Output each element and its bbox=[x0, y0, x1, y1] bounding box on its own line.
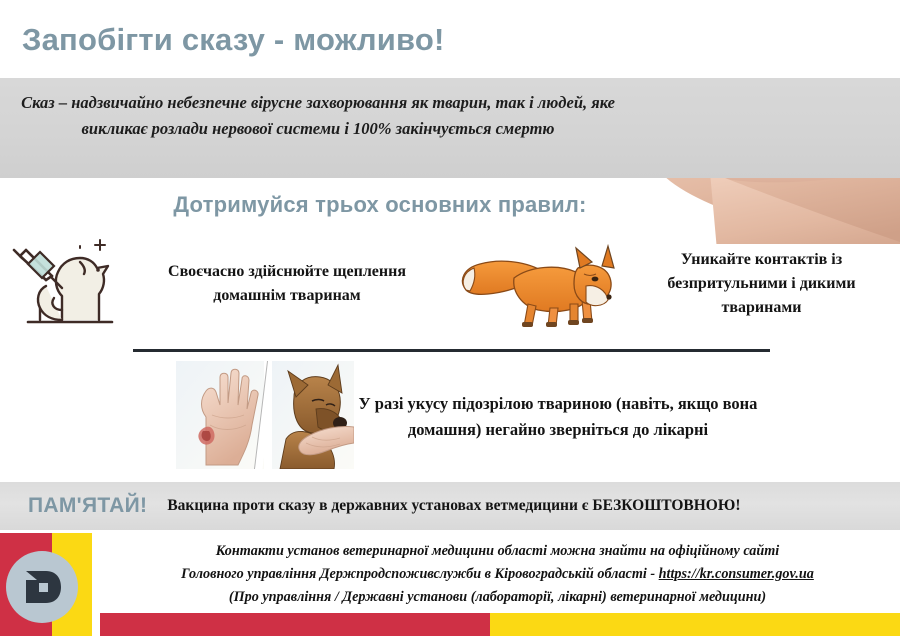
bitten-hand-and-dog-icon bbox=[0, 361, 354, 474]
rules-row-top: Своєчасно здійснюйте щеплення домашнім т… bbox=[0, 228, 900, 340]
footer-line-2: Головного управління Держпродспоживслужб… bbox=[100, 563, 895, 586]
rule-item-avoid-animals: Уникайте контактів із безпритульними і д… bbox=[450, 228, 900, 340]
rules-row-bottom: У разі укусу підозрілою твариною (навіть… bbox=[0, 362, 900, 472]
derzhprodspozhyvsluzhba-logo bbox=[6, 551, 78, 623]
footer: Контакти установ ветеринарної медицини о… bbox=[0, 533, 900, 636]
rule-item-vaccination: Своєчасно здійснюйте щеплення домашнім т… bbox=[0, 228, 450, 340]
rabies-prevention-poster: Запобігти сказу - можливо! Сказ – надзви… bbox=[0, 0, 900, 636]
remember-banner: ПАМ'ЯТАЙ! Вакцина проти сказу в державни… bbox=[0, 482, 900, 530]
footer-contact-text: Контакти установ ветеринарної медицини о… bbox=[100, 540, 895, 609]
rule-text-vaccination: Своєчасно здійснюйте щеплення домашнім т… bbox=[124, 260, 450, 309]
dog-vaccination-icon bbox=[0, 232, 124, 336]
section-divider bbox=[133, 349, 770, 352]
footer-stripe-yellow bbox=[490, 613, 900, 636]
footer-stripe-red bbox=[100, 613, 490, 636]
footer-line-1: Контакти установ ветеринарної медицини о… bbox=[100, 540, 895, 563]
footer-line-2-prefix: Головного управління Держпродспоживслужб… bbox=[181, 566, 658, 582]
consumer-site-link[interactable]: https://kr.consumer.gov.ua bbox=[659, 566, 814, 582]
intro-band: Сказ – надзвичайно небезпечне вірусне за… bbox=[0, 78, 900, 178]
title-bar: Запобігти сказу - можливо! bbox=[0, 0, 900, 78]
remember-text: Вакцина проти сказу в державних установа… bbox=[167, 497, 740, 515]
footer-line-3: (Про управління / Державні установи (лаб… bbox=[100, 586, 895, 609]
page-title: Запобігти сказу - можливо! bbox=[22, 22, 445, 58]
rules-heading: Дотримуйся трьох основних правил: bbox=[0, 192, 760, 218]
rule-text-avoid-animals: Уникайте контактів із безпритульними і д… bbox=[623, 248, 900, 321]
rule-text-bite: У разі укусу підозрілою твариною (навіть… bbox=[358, 391, 758, 443]
fox-icon bbox=[450, 234, 623, 334]
remember-label: ПАМ'ЯТАЙ! bbox=[28, 494, 147, 518]
intro-text: Сказ – надзвичайно небезпечне вірусне за… bbox=[18, 90, 618, 142]
